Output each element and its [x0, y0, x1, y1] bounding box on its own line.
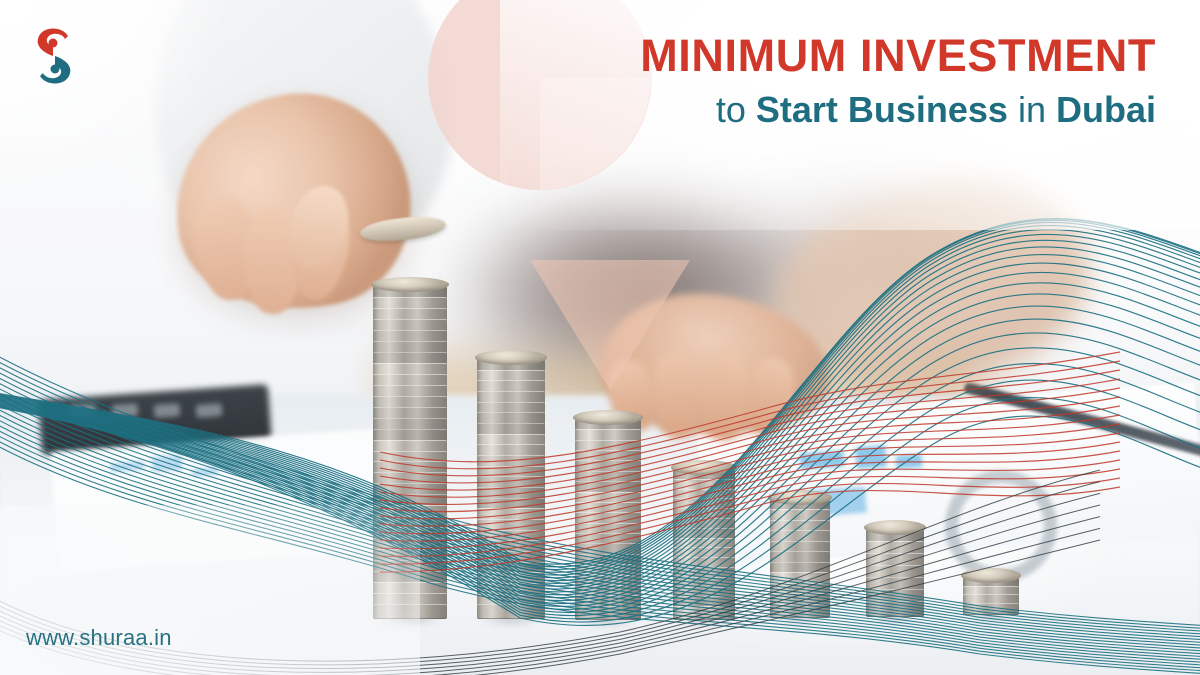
- coin-stack: [866, 515, 924, 615]
- calculator-key: [154, 403, 181, 418]
- headline-block: MINIMUM INVESTMENT to Start Business in …: [536, 32, 1156, 129]
- calculator-key: [70, 403, 97, 418]
- coin-stack-top: [864, 520, 926, 535]
- coin-stack: [770, 485, 830, 616]
- bar-chart-icon: [152, 455, 183, 472]
- coin-stack: [575, 405, 641, 618]
- coin-stack-top: [573, 410, 643, 425]
- website-url[interactable]: www.shuraa.in: [26, 625, 172, 651]
- document-icon: [51, 429, 389, 572]
- coin-stack: [673, 455, 735, 618]
- promo-banner: MINIMUM INVESTMENT to Start Business in …: [0, 0, 1200, 675]
- subtitle-part-to: to: [716, 89, 756, 130]
- coin: [373, 604, 447, 619]
- coin: [673, 606, 735, 620]
- shuraa-s-logo-icon[interactable]: [26, 20, 82, 92]
- bar-chart-icon: [896, 454, 923, 469]
- coin-stack-top: [371, 277, 449, 292]
- coin: [575, 606, 641, 620]
- coin: [866, 601, 924, 617]
- coin: [770, 604, 830, 618]
- coin-stack-top: [671, 460, 737, 475]
- page-title: MINIMUM INVESTMENT: [536, 32, 1156, 80]
- subtitle-part-dubai: Dubai: [1056, 89, 1156, 130]
- subtitle-part-start-business: Start Business: [756, 89, 1008, 130]
- coin-stack-top: [768, 490, 832, 505]
- coin-stack: [373, 272, 447, 617]
- coin-stack: [963, 563, 1019, 613]
- coin: [477, 604, 545, 619]
- page-subtitle: to Start Business in Dubai: [536, 90, 1156, 130]
- coin: [963, 603, 1019, 616]
- bar-chart-icon: [799, 450, 844, 469]
- calculator-key: [196, 403, 223, 418]
- subtitle-part-in: in: [1008, 89, 1056, 130]
- calculator-key: [112, 403, 139, 418]
- coin-stack-top: [961, 568, 1021, 583]
- coin-stack: [477, 345, 545, 617]
- finger: [653, 351, 702, 439]
- coin-stack-top: [475, 350, 547, 365]
- bar-chart-icon: [855, 445, 886, 469]
